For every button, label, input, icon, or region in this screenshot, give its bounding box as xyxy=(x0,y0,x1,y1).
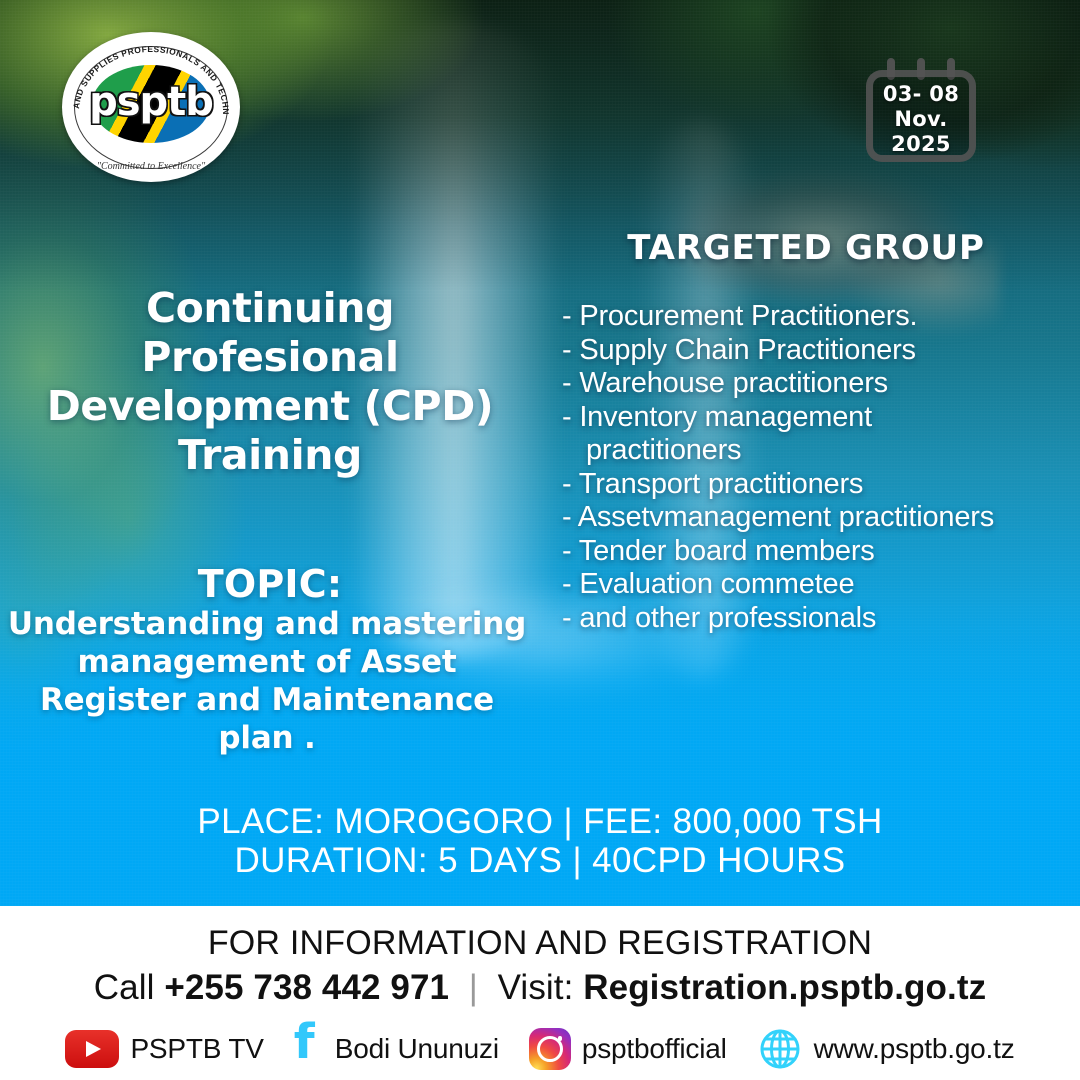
facebook-label: Bodi Ununuzi xyxy=(335,1033,499,1065)
footer-contact-line: Call +255 738 442 971 | Visit: Registrat… xyxy=(0,968,1080,1008)
footer-bar: FOR INFORMATION AND REGISTRATION Call +2… xyxy=(0,906,1080,1080)
contact-separator: | xyxy=(449,968,498,1007)
date-badge: 03- 08 Nov. 2025 xyxy=(866,58,976,162)
psptb-logo: PROCUREMENT AND SUPPLIES PROFESSIONALS A… xyxy=(62,32,240,182)
social-links-row: PSPTB TV Bodi Ununuzi psptbofficial xyxy=(0,1018,1080,1080)
date-year: 2025 xyxy=(866,132,976,157)
targeted-group-item: - and other professionals xyxy=(562,602,1080,636)
event-details: PLACE: MOROGORO | FEE: 800,000 TSH DURAT… xyxy=(0,802,1080,880)
instagram-icon xyxy=(529,1028,571,1070)
social-link-website[interactable]: www.psptb.go.tz xyxy=(757,1026,1015,1072)
social-link-youtube[interactable]: PSPTB TV xyxy=(65,1030,263,1068)
topic-text: Understanding and mastering management o… xyxy=(0,605,534,757)
targeted-group-item: - Transport practitioners xyxy=(562,468,1080,502)
globe-icon xyxy=(757,1026,803,1072)
footer-heading: FOR INFORMATION AND REGISTRATION xyxy=(0,924,1080,963)
youtube-label: PSPTB TV xyxy=(130,1033,263,1065)
instagram-label: psptbofficial xyxy=(582,1033,727,1065)
targeted-group-item: - Inventory management xyxy=(562,401,1080,435)
topic-label: TOPIC: xyxy=(14,562,526,606)
call-prefix: Call xyxy=(94,968,165,1007)
detail-place-fee: PLACE: MOROGORO | FEE: 800,000 TSH xyxy=(0,802,1080,841)
phone-number[interactable]: +255 738 442 971 xyxy=(164,968,449,1007)
date-badge-text: 03- 08 Nov. 2025 xyxy=(866,82,976,157)
social-link-instagram[interactable]: psptbofficial xyxy=(529,1028,727,1070)
social-link-facebook[interactable]: Bodi Ununuzi xyxy=(294,1028,499,1070)
targeted-group-item: - Assetvmanagement practitioners xyxy=(562,501,1080,535)
targeted-group-item: practitioners xyxy=(562,434,1080,468)
registration-url[interactable]: Registration.psptb.go.tz xyxy=(583,968,986,1007)
targeted-group-title: TARGETED GROUP xyxy=(556,228,1056,268)
event-headline: Continuing Profesional Development (CPD)… xyxy=(14,284,526,480)
targeted-group-item: - Evaluation commetee xyxy=(562,568,1080,602)
detail-duration-hours: DURATION: 5 DAYS | 40CPD HOURS xyxy=(0,841,1080,880)
poster-canvas: PROCUREMENT AND SUPPLIES PROFESSIONALS A… xyxy=(0,0,1080,1080)
targeted-group-list: - Procurement Practitioners.- Supply Cha… xyxy=(562,300,1080,635)
targeted-group-item: - Warehouse practitioners xyxy=(562,367,1080,401)
targeted-group-item: - Supply Chain Practitioners xyxy=(562,334,1080,368)
targeted-group-item: - Tender board members xyxy=(562,535,1080,569)
logo-motto: "Committed to Excellence" xyxy=(62,161,240,172)
youtube-icon xyxy=(65,1030,119,1068)
date-month: Nov. xyxy=(866,107,976,132)
date-range: 03- 08 xyxy=(866,82,976,107)
website-label: www.psptb.go.tz xyxy=(814,1033,1015,1065)
logo-wordmark: psptb xyxy=(62,79,240,125)
visit-prefix: Visit: xyxy=(498,968,584,1007)
targeted-group-item: - Procurement Practitioners. xyxy=(562,300,1080,334)
facebook-icon xyxy=(294,1028,324,1070)
